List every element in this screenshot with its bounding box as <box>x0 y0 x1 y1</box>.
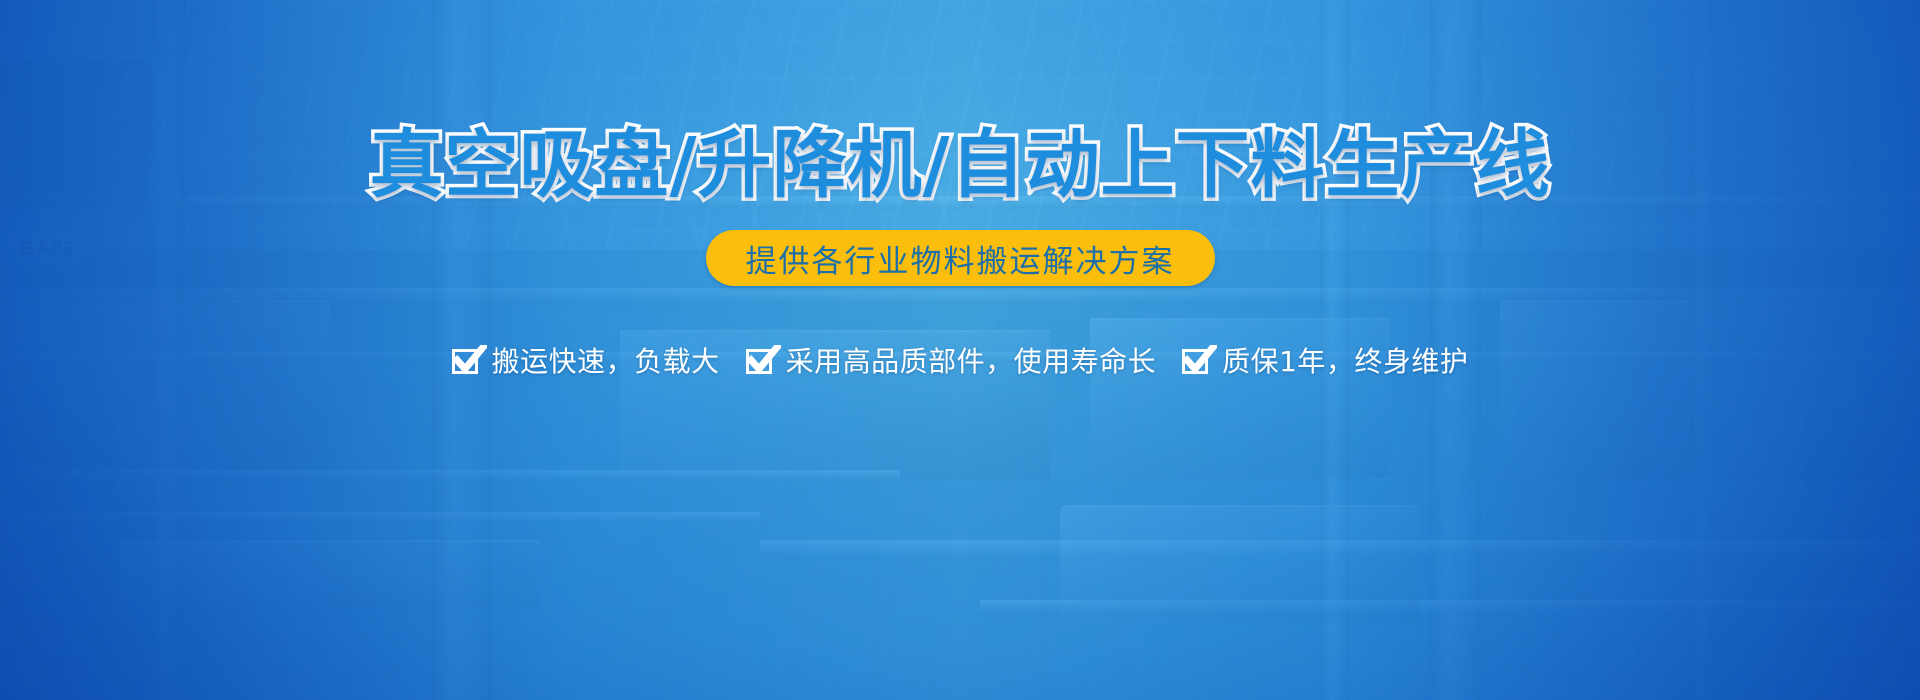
hero-banner: BA06 真空吸盘/升降机/自动上下料生产线 提供各行业物料搬运解决方案 搬运快… <box>0 0 1920 700</box>
feature-item-3: 质保1年，终身维护 <box>1182 340 1468 380</box>
feature-list: 搬运快速，负载大 采用高品质部件，使用寿命长 质保1 <box>452 340 1469 380</box>
banner-title: 真空吸盘/升降机/自动上下料生产线 <box>369 128 1550 202</box>
checkbox-check-icon <box>1182 345 1214 375</box>
feature-item-1: 搬运快速，负载大 <box>452 340 720 380</box>
banner-content: 真空吸盘/升降机/自动上下料生产线 提供各行业物料搬运解决方案 搬运快速，负载大 <box>0 0 1920 700</box>
feature-label: 质保1年，终身维护 <box>1222 340 1468 380</box>
feature-label: 搬运快速，负载大 <box>492 340 720 380</box>
checkbox-check-icon <box>746 345 778 375</box>
checkbox-check-icon <box>452 345 484 375</box>
feature-item-2: 采用高品质部件，使用寿命长 <box>746 340 1157 380</box>
feature-label: 采用高品质部件，使用寿命长 <box>786 340 1157 380</box>
subtitle-pill-text: 提供各行业物料搬运解决方案 <box>746 236 1175 281</box>
subtitle-pill: 提供各行业物料搬运解决方案 <box>706 230 1215 286</box>
